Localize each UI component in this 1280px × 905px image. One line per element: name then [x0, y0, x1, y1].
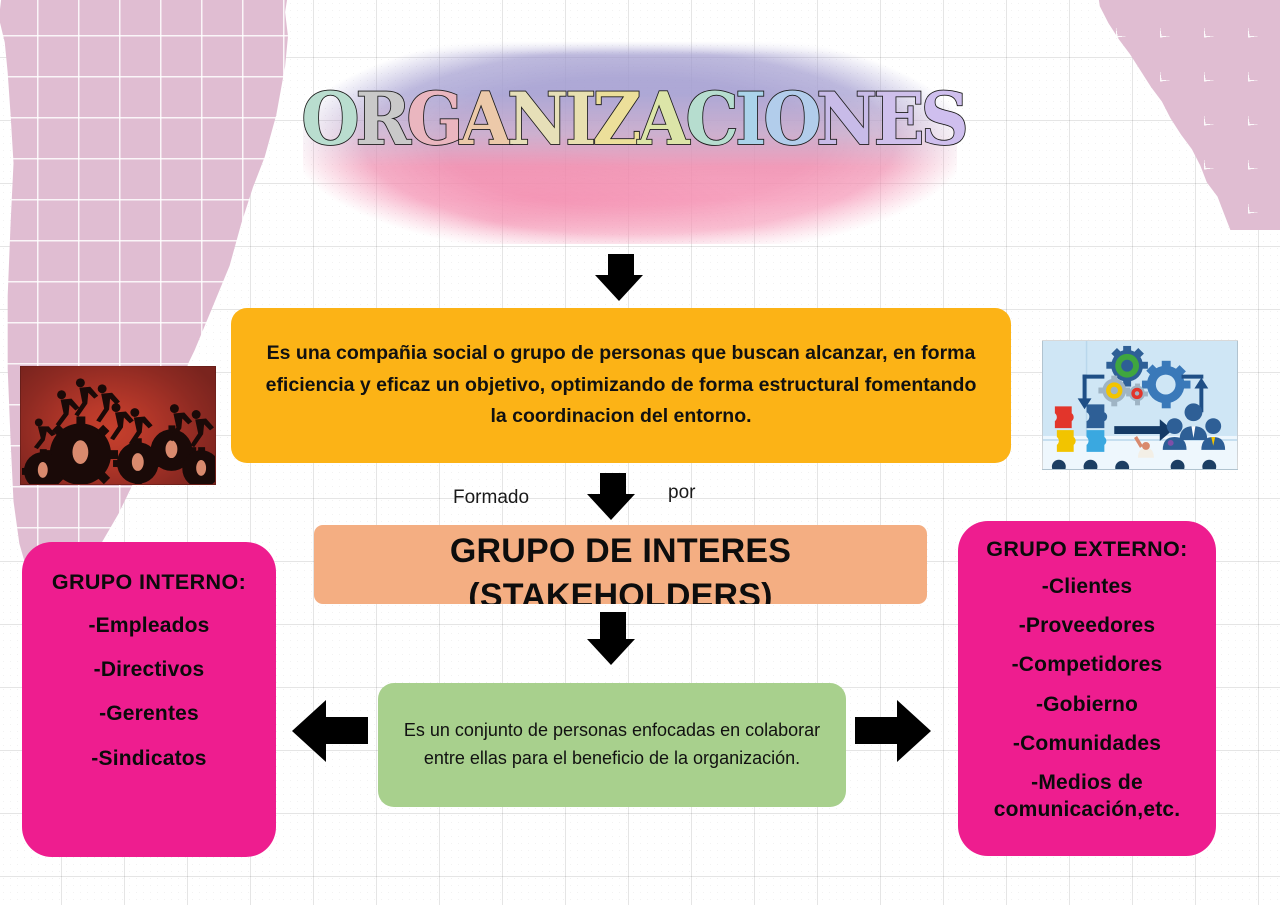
title-letter: E [874, 83, 924, 155]
internal-group-item: -Gerentes [32, 701, 266, 726]
internal-group-item: -Sindicatos [32, 746, 266, 771]
title-letter: G [407, 83, 463, 155]
definition-box: Es una compañia social o grupo de person… [231, 308, 1011, 463]
infographic-canvas: ORGANIZACIONES Es una compañia social o … [0, 0, 1280, 905]
collaborate-box: Es un conjunto de personas enfocadas en … [378, 683, 846, 807]
label-por: por [668, 482, 695, 504]
external-group-item: -Comunidades [968, 731, 1206, 756]
external-group-item: -Gobierno [968, 692, 1206, 717]
title-letter: I [565, 83, 595, 155]
title-letter: A [460, 83, 511, 155]
teamwork-gears-puzzle-icon [1043, 341, 1237, 470]
internal-group-title: GRUPO INTERNO: [32, 570, 266, 595]
arrow-to-external-group [855, 700, 931, 762]
torn-paper-top-left [0, 0, 288, 598]
business-teamwork-image [1042, 340, 1238, 470]
title-letter: Z [593, 83, 641, 155]
gears-people-image [20, 366, 216, 485]
external-group-title: GRUPO EXTERNO: [968, 537, 1206, 562]
title-letter: S [921, 83, 968, 155]
internal-group-item: -Directivos [32, 657, 266, 682]
arrow-to-internal-group [292, 700, 368, 762]
definition-text: Es una compañia social o grupo de person… [259, 338, 983, 433]
title-letter: I [735, 83, 765, 155]
external-group-item: -Medios de comunicación,etc. [968, 770, 1206, 824]
stakeholders-text: GRUPO DE INTERES (STAKEHOLDERS) [450, 529, 791, 604]
internal-group-item: -Empleados [32, 613, 266, 638]
external-group-item: -Clientes [968, 574, 1206, 599]
torn-paper-top-right [1072, 0, 1280, 230]
title-letter: O [763, 83, 820, 155]
gears-people-silhouette-icon [21, 367, 215, 485]
label-formado: Formado [453, 487, 529, 509]
internal-group-panel: GRUPO INTERNO: -Empleados -Directivos -G… [22, 542, 276, 857]
title-letter: N [507, 83, 567, 155]
page-title: ORGANIZACIONES [303, 88, 957, 151]
title-letter: C [685, 83, 737, 155]
collaborate-text: Es un conjunto de personas enfocadas en … [402, 717, 822, 772]
external-group-item: -Competidores [968, 652, 1206, 677]
stakeholders-box: GRUPO DE INTERES (STAKEHOLDERS) [314, 525, 927, 604]
external-group-panel: GRUPO EXTERNO: -Clientes -Proveedores -C… [958, 521, 1216, 856]
title-letter: O [301, 83, 358, 155]
title-letter: A [638, 83, 689, 155]
title-letter: N [817, 83, 877, 155]
title-letter: R [355, 83, 409, 155]
external-group-item: -Proveedores [968, 613, 1206, 638]
